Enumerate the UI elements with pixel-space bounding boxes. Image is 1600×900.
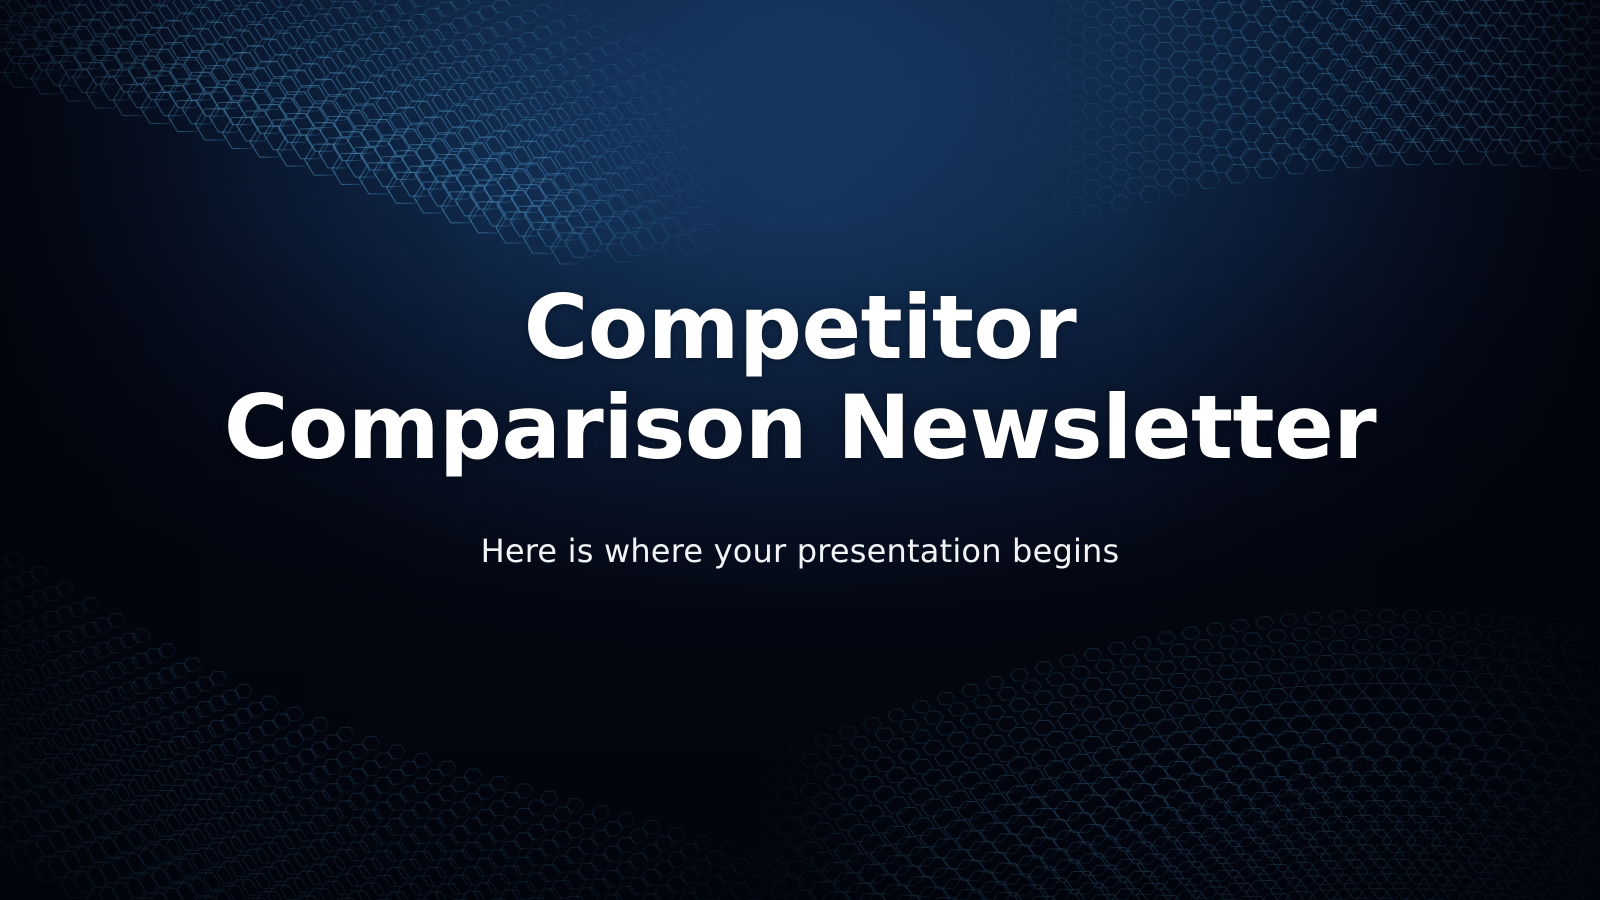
presentation-title-slide: Competitor Comparison Newsletter Here is…	[0, 0, 1600, 900]
slide-subtitle: Here is where your presentation begins	[481, 532, 1120, 570]
page-title: Competitor Comparison Newsletter	[220, 278, 1380, 479]
slide-content: Competitor Comparison Newsletter Here is…	[0, 0, 1600, 900]
